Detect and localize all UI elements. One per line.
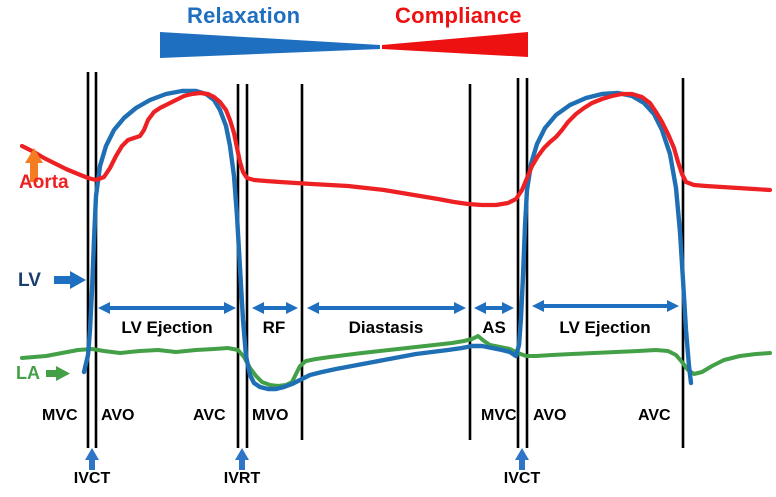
figure-canvas: Relaxation Compliance (0, 0, 776, 497)
interval-label-ivrt-1: IVRT (212, 470, 272, 488)
ivrt-1-arrow-up-icon (235, 448, 249, 470)
ivct-1-arrow-up-icon (85, 448, 99, 470)
interval-label-ivct-1: IVCT (62, 470, 122, 488)
interval-label-ivct-2: IVCT (492, 470, 552, 488)
interval-arrows-layer (0, 0, 776, 497)
ivct-2-arrow-up-icon (515, 448, 529, 470)
